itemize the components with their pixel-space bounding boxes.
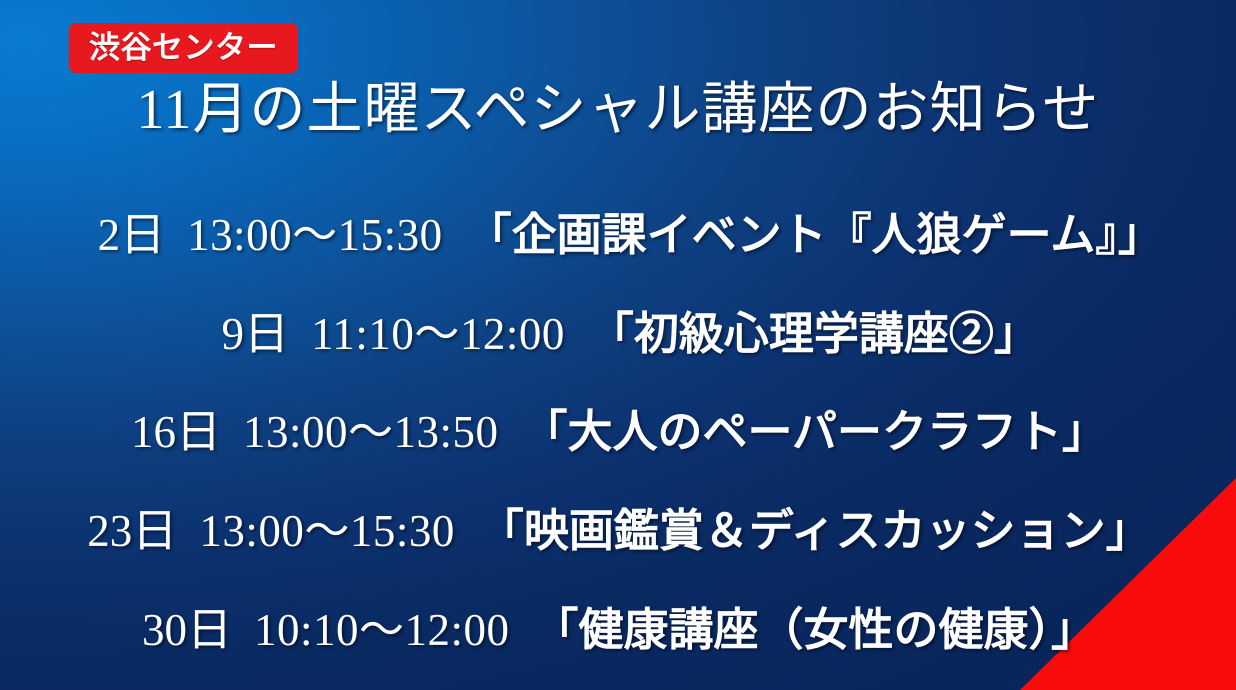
schedule-time: 11:10〜12:00 (311, 312, 565, 357)
schedule-time: 13:00〜15:30 (187, 213, 443, 258)
schedule-title: 「映画鑑賞＆ディスカッション」 (479, 509, 1151, 554)
schedule-row: 23日 13:00〜15:30 「映画鑑賞＆ディスカッション」 (0, 482, 1236, 581)
schedule-day: 16日 (129, 410, 221, 455)
schedule-title: 「大人のペーパークラフト」 (522, 410, 1107, 455)
schedule-row: 30日 10:10〜12:00 「健康講座（女性の健康）」 (0, 581, 1236, 680)
schedule-title: 「健康講座（女性の健康）」 (534, 608, 1097, 653)
schedule-day: 2日 (73, 213, 165, 258)
schedule-time: 10:10〜12:00 (254, 608, 510, 653)
schedule-row: 16日 13:00〜13:50 「大人のペーパークラフト」 (0, 384, 1236, 483)
schedule-row: 9日 11:10〜12:00 「初級心理学講座②」 (0, 285, 1236, 384)
schedule-day: 23日 (85, 509, 177, 554)
schedule-day: 30日 (140, 608, 232, 653)
schedule-day: 9日 (197, 312, 289, 357)
schedule-title: 「初級心理学講座②」 (589, 312, 1039, 357)
slide-canvas: 渋谷センター 11月の土曜スペシャル講座のお知らせ 2日 13:00〜15:30… (0, 0, 1236, 690)
schedule-title: 「企画課イベント『人狼ゲーム』」 (467, 213, 1163, 258)
page-title: 11月の土曜スペシャル講座のお知らせ (0, 82, 1236, 138)
badge-label: 渋谷センター (89, 33, 278, 64)
schedule-row: 2日 13:00〜15:30 「企画課イベント『人狼ゲーム』」 (0, 186, 1236, 285)
schedule-list: 2日 13:00〜15:30 「企画課イベント『人狼ゲーム』」 9日 11:10… (0, 186, 1236, 680)
center-name-badge: 渋谷センター (69, 23, 298, 73)
schedule-time: 13:00〜13:50 (243, 410, 499, 455)
schedule-time: 13:00〜15:30 (199, 509, 455, 554)
